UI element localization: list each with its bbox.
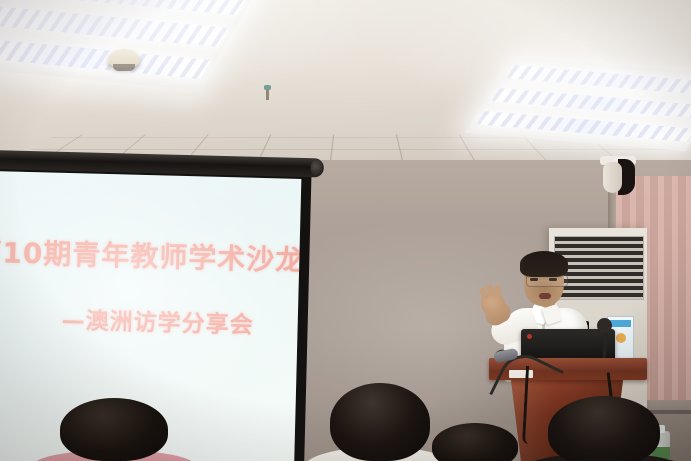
lectern-microphone-capsule: [494, 350, 534, 364]
audience-member-2: [330, 383, 430, 461]
audience-member-1: [60, 398, 168, 461]
ceiling: [0, 0, 691, 172]
security-camera-icon: [600, 156, 636, 198]
slide-title-line-1: 第10期青年教师学术沙龙: [0, 231, 301, 279]
sprinkler-head-icon: [264, 85, 271, 100]
audience-member-4: [548, 396, 660, 461]
lecture-room-photo: 第10期青年教师学术沙龙 —澳洲访学分享会: [0, 0, 691, 461]
smoke-detector-icon: [108, 49, 140, 68]
fluorescent-troffer-left-icon: [0, 0, 259, 90]
presenter-hair: [520, 251, 568, 277]
audience-member-3: [432, 423, 518, 461]
slide-subtitle-line-2: —澳洲访学分享会: [61, 301, 254, 340]
presenter-mouth: [539, 293, 551, 299]
